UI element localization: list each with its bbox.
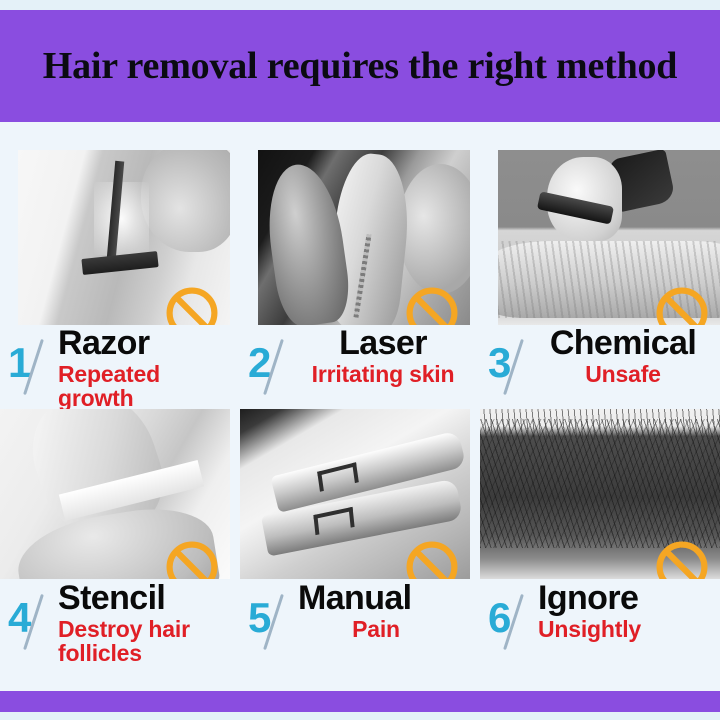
no-entry-icon [404,285,460,325]
caption: 3 Chemical Unsafe [480,322,720,408]
method-drawback: Destroy hair follicles [58,617,240,665]
photo-shape-foot [260,160,354,325]
bottom-edge-strip [0,712,720,720]
item-number-badge: 3 [486,334,538,396]
manual-tweezers-photo [240,409,470,579]
method-card-chemical[interactable]: 3 Chemical Unsafe [480,126,720,409]
method-name: Laser [298,326,468,360]
method-card-stencil[interactable]: 4 Stencil Destroy hair follicles [0,409,240,686]
method-drawback: Unsafe [538,362,708,386]
method-grid: 1 Razor Repeated growth [0,126,720,686]
item-number-badge: 4 [6,589,58,651]
photo-shape-hand [141,150,230,252]
no-entry-icon [654,539,710,579]
footer-band [0,691,720,712]
method-drawback: Unsightly [538,617,720,641]
photo-shape-hair-edge [480,409,720,440]
poster: Hair removal requires the right method 1 [0,0,720,720]
page-title: Hair removal requires the right method [0,10,720,122]
method-name: Ignore [538,581,720,615]
method-card-manual[interactable]: 5 Manual Pain [240,409,480,686]
method-name: Stencil [58,581,240,615]
item-number-badge: 5 [246,589,298,651]
item-number-badge: 1 [6,334,58,396]
method-drawback: Pain [298,617,480,641]
caption: 5 Manual Pain [240,577,480,685]
chemical-device-arm-photo [498,150,720,325]
caption: 6 Ignore Unsightly [480,577,720,685]
method-card-laser[interactable]: 2 Laser Irritating skin [240,126,480,409]
method-card-ignore[interactable]: 6 Ignore Unsightly [480,409,720,686]
method-name: Manual [298,581,480,615]
method-drawback: Irritating skin [298,362,468,386]
razor-shaving-foam-photo [18,150,230,325]
no-entry-icon [654,285,710,325]
photo-shape-razor-head [81,251,159,275]
no-entry-icon [404,539,460,579]
method-name: Chemical [538,326,708,360]
item-number-badge: 2 [246,334,298,396]
no-entry-icon [164,285,220,325]
caption: 1 Razor Repeated growth [0,322,240,408]
caption: 4 Stencil Destroy hair follicles [0,577,240,685]
photo-shape-leg-back [398,164,470,294]
method-card-razor[interactable]: 1 Razor Repeated growth [0,126,240,409]
top-edge-strip [0,0,720,10]
wax-stencil-strip-photo [0,409,230,579]
photo-shape-foam [94,182,149,256]
method-drawback: Repeated growth [58,362,240,409]
no-entry-icon [164,539,220,579]
method-name: Razor [58,326,240,360]
untreated-hairy-leg-photo [480,409,720,579]
caption: 2 Laser Irritating skin [240,322,480,408]
item-number-badge: 6 [486,589,538,651]
laser-treatment-legs-photo [258,150,470,325]
